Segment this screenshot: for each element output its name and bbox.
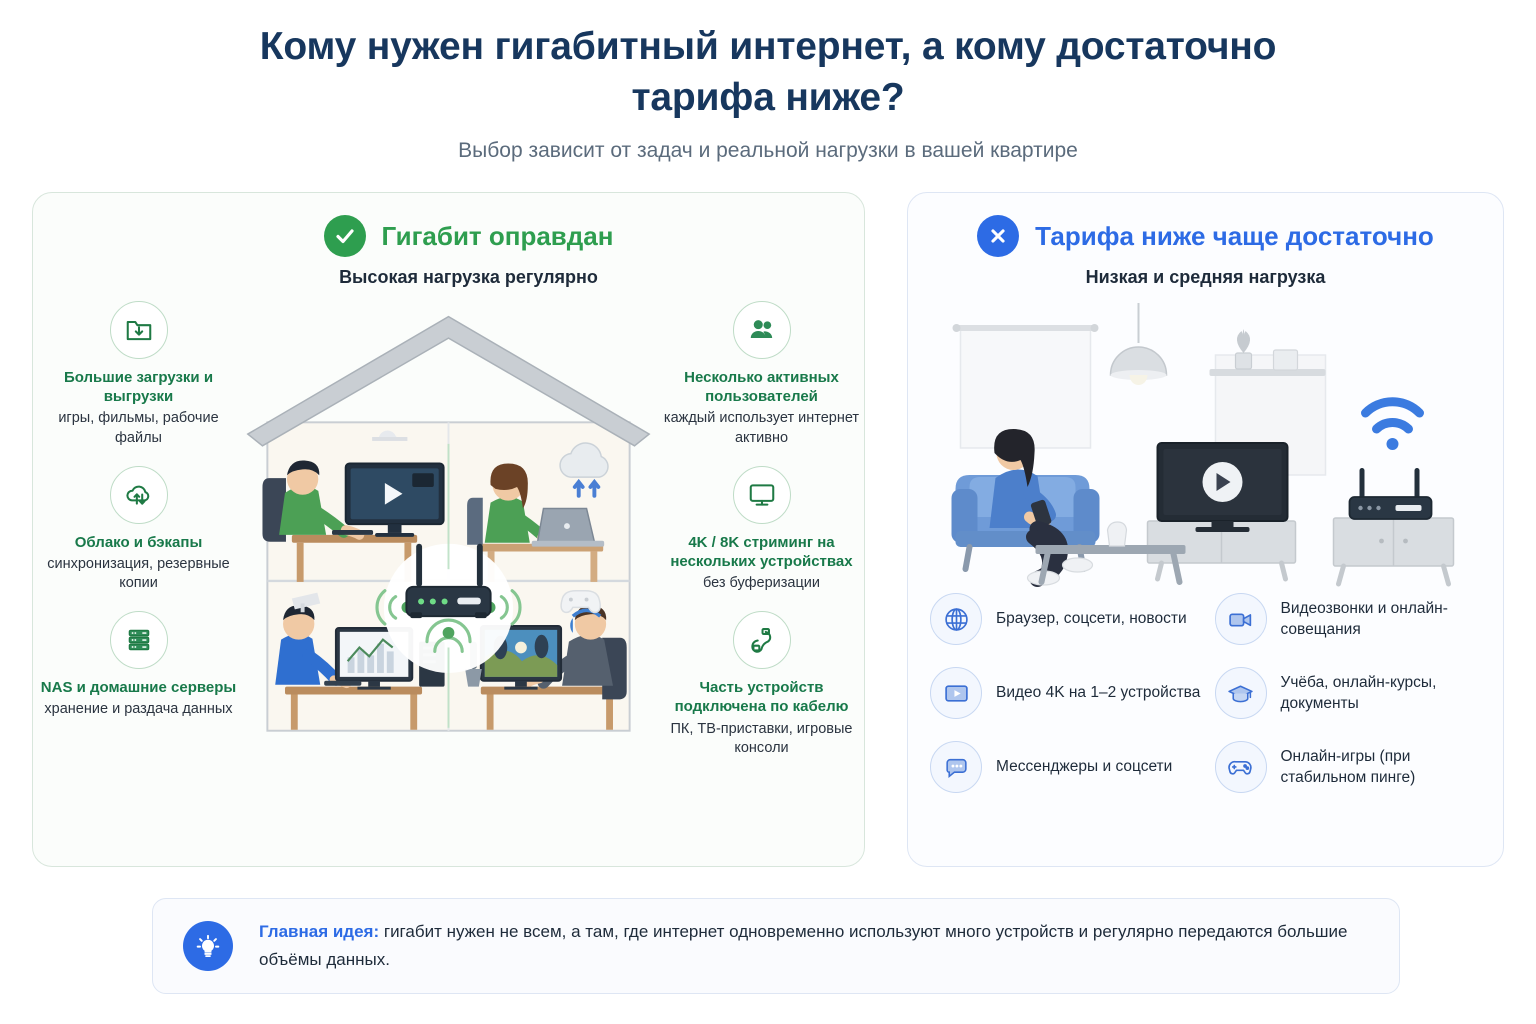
header: Кому нужен гигабитный интернет, а кому д… [0,0,1536,163]
house-cutaway-illustration [238,297,659,866]
x-circle-icon [977,215,1019,257]
lightbulb-icon [183,921,233,971]
list-item-label: Видеозвонки и онлайн-совещания [1281,598,1490,641]
right-panel-subtitle: Низкая и средняя нагрузка [908,267,1503,288]
graduation-cap-icon [1215,667,1267,719]
left-features-column: Большие загрузки и выгрузки игры, фильмы… [33,297,238,866]
list-item-label: Онлайн-игры (при стабильном пинге) [1281,746,1490,789]
feature-desc: без буферизации [659,574,864,593]
feature-title: NAS и домашние серверы [39,678,238,697]
list-item-label: Браузер, соцсети, новости [996,608,1187,629]
list-item-label: Учёба, онлайн-курсы, документы [1281,672,1490,715]
ethernet-cable-icon [733,611,791,669]
left-panel-subtitle: Высокая нагрузка регулярно [33,267,864,288]
chat-bubble-icon [930,741,982,793]
users-group-icon [733,301,791,359]
right-panel-header: Тарифа ниже чаще достаточно [908,193,1503,257]
list-item: Мессенджеры и соцсети [930,741,1205,793]
page-subtitle: Выбор зависит от задач и реальной нагруз… [0,139,1536,163]
feature-desc: хранение и раздача данных [39,700,238,719]
right-panel-title: Тарифа ниже чаще достаточно [1035,221,1434,252]
feature-title: Большие загрузки и выгрузки [39,368,238,406]
feature-desc: каждый использует интернет активно [659,409,864,447]
feature-title: Облако и бэкапы [39,533,238,552]
key-idea-callout: Главная идея: гигабит нужен не всем, а т… [152,898,1400,994]
feature-title: Несколько активных пользователей [659,368,864,406]
gamepad-icon [1215,741,1267,793]
panel-lower-tariff-enough: Тарифа ниже чаще достаточно Низкая и сре… [907,192,1504,867]
monitor-icon [733,466,791,524]
left-panel-header: Гигабит оправдан [33,193,864,257]
infographic-page: Кому нужен гигабитный интернет, а кому д… [0,0,1536,1024]
globe-icon [930,593,982,645]
video-camera-icon [1215,593,1267,645]
right-panel-list: Браузер, соцсети, новости Видео 4K на 1–… [930,593,1489,793]
feature-item: 4K / 8K стриминг на нескольких устройств… [659,466,864,594]
feature-item: NAS и домашние серверы хранение и раздач… [39,611,238,719]
list-item: Видео 4K на 1–2 устройства [930,667,1205,719]
feature-item: Часть устройств подключена по кабелю ПК,… [659,611,864,758]
list-item: Онлайн-игры (при стабильном пинге) [1215,741,1490,793]
cloud-sync-icon [110,466,168,524]
key-idea-text: Главная идея: гигабит нужен не всем, а т… [259,918,1369,973]
key-idea-lead: Главная идея: [259,922,379,941]
list-item: Видеозвонки и онлайн-совещания [1215,593,1490,645]
list-item-label: Видео 4K на 1–2 устройства [996,682,1200,703]
feature-title: 4K / 8K стриминг на нескольких устройств… [659,533,864,571]
feature-item: Несколько активных пользователей каждый … [659,301,864,448]
right-list-column-left: Браузер, соцсети, новости Видео 4K на 1–… [930,593,1205,793]
feature-item: Облако и бэкапы синхронизация, резервные… [39,466,238,593]
panel-gigabit-justified: Гигабит оправдан Высокая нагрузка регуля… [32,192,865,867]
feature-desc: ПК, ТВ-приставки, игровые консоли [659,720,864,758]
right-list-column-right: Видеозвонки и онлайн-совещания Учёба, он… [1215,593,1490,793]
panels-row: Гигабит оправдан Высокая нагрузка регуля… [32,192,1504,867]
feature-title: Часть устройств подключена по кабелю [659,678,864,716]
living-room-illustration [918,293,1493,593]
video-play-icon [930,667,982,719]
right-features-column: Несколько активных пользователей каждый … [659,297,864,866]
check-circle-icon [324,215,366,257]
feature-desc: игры, фильмы, рабочие файлы [39,409,238,447]
left-panel-title: Гигабит оправдан [382,221,614,252]
feature-item: Большие загрузки и выгрузки игры, фильмы… [39,301,238,448]
folder-download-icon [110,301,168,359]
list-item-label: Мессенджеры и соцсети [996,756,1172,777]
feature-desc: синхронизация, резервные копии [39,555,238,593]
left-panel-body: Большие загрузки и выгрузки игры, фильмы… [33,297,864,866]
server-rack-icon [110,611,168,669]
list-item: Учёба, онлайн-курсы, документы [1215,667,1490,719]
page-title: Кому нужен гигабитный интернет, а кому д… [258,22,1278,123]
key-idea-body: гигабит нужен не всем, а там, где интерн… [259,922,1347,969]
list-item: Браузер, соцсети, новости [930,593,1205,645]
